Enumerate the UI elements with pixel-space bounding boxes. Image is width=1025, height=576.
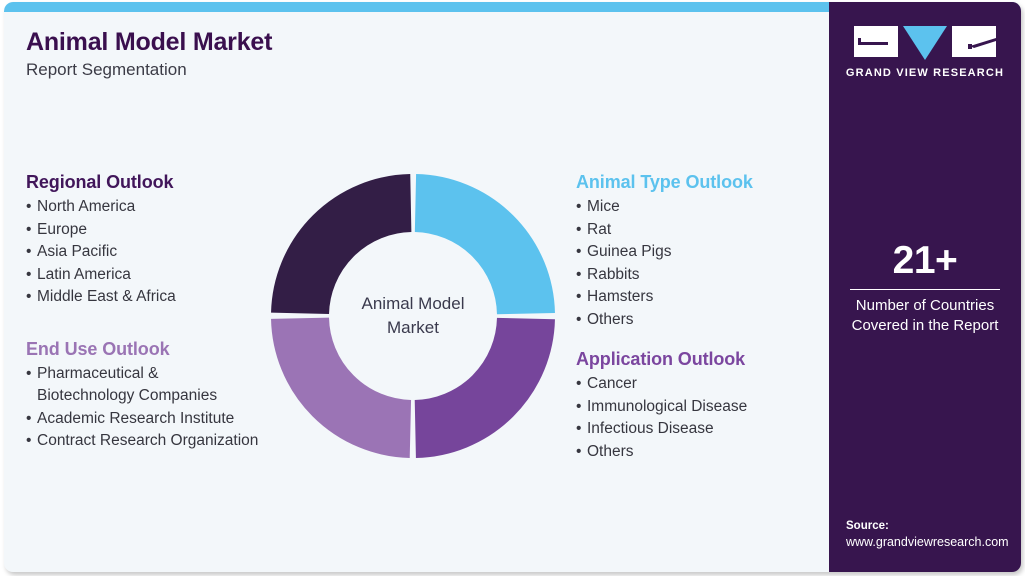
animal-type-outlook-heading: Animal Type Outlook	[576, 172, 826, 193]
brand-logo: GRAND VIEW RESEARCH	[829, 26, 1021, 79]
regional-outlook-block: Regional Outlook North America Europe As…	[26, 172, 276, 309]
donut-chart-svg	[271, 174, 555, 458]
source-label: Source:	[846, 518, 1021, 534]
page-subtitle: Report Segmentation	[26, 60, 187, 80]
list-item: Cancer	[576, 373, 826, 396]
list-item: Latin America	[26, 264, 276, 287]
logo-g-icon	[854, 26, 898, 57]
animal-type-outlook-block: Animal Type Outlook Mice Rat Guinea Pigs…	[576, 172, 826, 332]
report-card: Animal Model Market Report Segmentation …	[4, 2, 1021, 572]
list-item: Middle East & Africa	[26, 286, 276, 309]
regional-outlook-list: North America Europe Asia Pacific Latin …	[26, 196, 276, 309]
source-url[interactable]: www.grandviewresearch.com	[846, 534, 1021, 551]
logo-r-icon	[952, 26, 996, 57]
page-title: Animal Model Market	[26, 28, 272, 57]
statistic-caption-line1: Number of Countries	[829, 296, 1021, 316]
statistic-divider	[850, 289, 1000, 290]
logo-v-icon	[903, 26, 947, 60]
donut-chart: Animal Model Market	[271, 174, 555, 458]
brand-panel: GRAND VIEW RESEARCH 21+ Number of Countr…	[829, 2, 1021, 572]
list-item: Infectious Disease	[576, 418, 826, 441]
logo-wordmark: GRAND VIEW RESEARCH	[829, 67, 1021, 79]
list-item: Rabbits	[576, 264, 826, 287]
animal-type-outlook-list: Mice Rat Guinea Pigs Rabbits Hamsters Ot…	[576, 196, 826, 332]
statistic-number: 21+	[829, 240, 1021, 282]
source-block: Source: www.grandviewresearch.com	[846, 518, 1021, 551]
list-item: Rat	[576, 219, 826, 242]
statistic-block: 21+ Number of Countries Covered in the R…	[829, 240, 1021, 336]
application-outlook-list: Cancer Immunological Disease Infectious …	[576, 373, 826, 463]
list-item: North America	[26, 196, 276, 219]
logo-marks	[829, 26, 1021, 60]
list-item: Guinea Pigs	[576, 241, 826, 264]
list-item: Immunological Disease	[576, 396, 826, 419]
application-outlook-heading: Application Outlook	[576, 349, 826, 370]
regional-outlook-heading: Regional Outlook	[26, 172, 276, 193]
list-item: Others	[576, 309, 826, 332]
application-outlook-block: Application Outlook Cancer Immunological…	[576, 349, 826, 463]
statistic-caption-line2: Covered in the Report	[829, 316, 1021, 336]
list-item: Europe	[26, 219, 276, 242]
list-item: Others	[576, 441, 826, 464]
infographic-page: Animal Model Market Report Segmentation …	[0, 0, 1025, 576]
list-item: Mice	[576, 196, 826, 219]
list-item: Asia Pacific	[26, 241, 276, 264]
list-item: Hamsters	[576, 286, 826, 309]
